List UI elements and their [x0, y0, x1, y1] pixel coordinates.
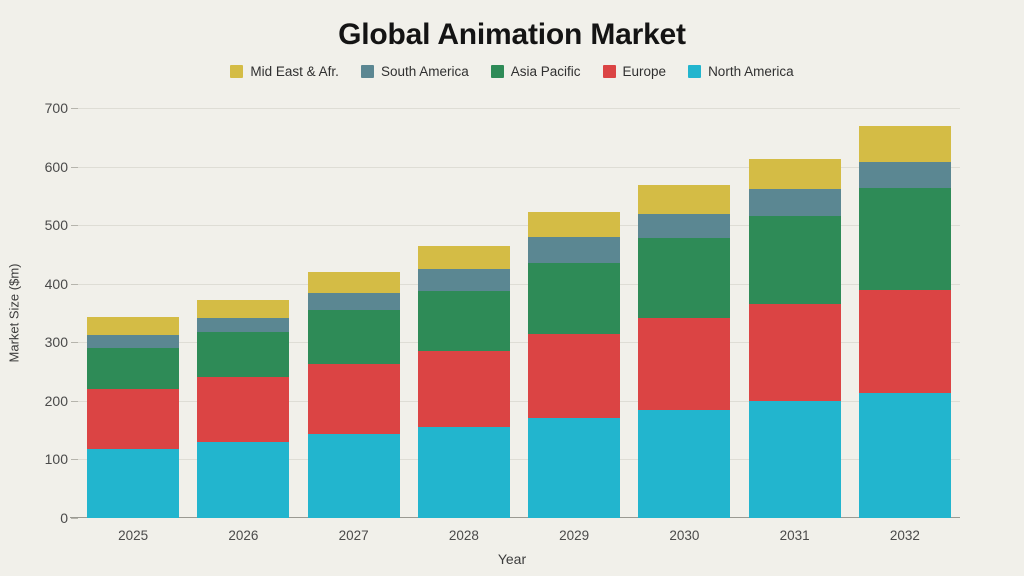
legend-label: Europe — [623, 64, 667, 79]
y-tick-mark — [71, 225, 78, 226]
x-tick-label: 2030 — [669, 528, 699, 543]
plot-area: 0100200300400500600700 20252026202720282… — [78, 108, 960, 518]
bar-segment[interactable] — [308, 364, 400, 434]
bar-segment[interactable] — [418, 427, 510, 518]
bar-group[interactable] — [308, 272, 400, 518]
bar-segment[interactable] — [418, 351, 510, 427]
y-tick-label: 700 — [45, 100, 68, 116]
bar-group[interactable] — [749, 159, 841, 518]
chart-root: Global Animation Market Mid East & Afr.S… — [0, 0, 1024, 576]
bar-segment[interactable] — [418, 291, 510, 351]
bar-segment[interactable] — [859, 290, 951, 393]
legend-swatch-icon — [688, 65, 701, 78]
y-tick-label: 200 — [45, 393, 68, 409]
bar-segment[interactable] — [749, 401, 841, 518]
bar-segment[interactable] — [308, 272, 400, 293]
bar-segment[interactable] — [308, 310, 400, 364]
y-tick-label: 600 — [45, 159, 68, 175]
legend-swatch-icon — [361, 65, 374, 78]
y-tick-mark — [71, 167, 78, 168]
x-tick-label: 2026 — [228, 528, 258, 543]
legend-swatch-icon — [491, 65, 504, 78]
x-tick-label: 2027 — [339, 528, 369, 543]
bar-segment[interactable] — [528, 418, 620, 518]
legend-label: Asia Pacific — [511, 64, 581, 79]
legend-item[interactable]: South America — [361, 64, 469, 79]
bar-group[interactable] — [197, 300, 289, 518]
bar-segment[interactable] — [418, 246, 510, 269]
bar-segment[interactable] — [308, 293, 400, 310]
bar-segment[interactable] — [87, 449, 179, 518]
legend-label: South America — [381, 64, 469, 79]
bar-segment[interactable] — [859, 126, 951, 162]
x-tick-label: 2029 — [559, 528, 589, 543]
bar-segment[interactable] — [197, 318, 289, 332]
legend-swatch-icon — [603, 65, 616, 78]
bar-segment[interactable] — [638, 214, 730, 238]
x-tick-label: 2028 — [449, 528, 479, 543]
bar-segment[interactable] — [859, 162, 951, 188]
x-tick-label: 2031 — [780, 528, 810, 543]
bar-group[interactable] — [859, 126, 951, 518]
chart-title: Global Animation Market — [0, 18, 1024, 52]
bar-segment[interactable] — [87, 335, 179, 348]
bar-segment[interactable] — [528, 212, 620, 237]
chart-legend: Mid East & Afr.South AmericaAsia Pacific… — [0, 64, 1024, 79]
bar-segment[interactable] — [197, 332, 289, 377]
legend-item[interactable]: Europe — [603, 64, 667, 79]
bar-segment[interactable] — [197, 442, 289, 518]
legend-label: Mid East & Afr. — [250, 64, 339, 79]
legend-item[interactable]: North America — [688, 64, 794, 79]
bar-segment[interactable] — [749, 304, 841, 402]
bar-segment[interactable] — [87, 317, 179, 335]
bar-segment[interactable] — [87, 389, 179, 449]
bar-segment[interactable] — [528, 334, 620, 419]
bar-segment[interactable] — [749, 216, 841, 304]
y-tick-label: 400 — [45, 276, 68, 292]
bar-segment[interactable] — [749, 189, 841, 215]
bar-series-layer: 20252026202720282029203020312032 — [78, 108, 960, 518]
y-tick-label: 300 — [45, 334, 68, 350]
bar-group[interactable] — [87, 317, 179, 518]
y-tick-label: 0 — [60, 510, 68, 526]
y-tick-mark — [71, 342, 78, 343]
bar-segment[interactable] — [638, 410, 730, 518]
bar-segment[interactable] — [528, 237, 620, 262]
bar-segment[interactable] — [859, 188, 951, 289]
bar-group[interactable] — [418, 246, 510, 518]
bar-segment[interactable] — [638, 185, 730, 214]
bar-group[interactable] — [638, 185, 730, 518]
legend-item[interactable]: Mid East & Afr. — [230, 64, 339, 79]
y-tick-mark — [71, 108, 78, 109]
legend-label: North America — [708, 64, 794, 79]
bar-segment[interactable] — [528, 263, 620, 334]
bar-group[interactable] — [528, 212, 620, 518]
bar-segment[interactable] — [749, 159, 841, 189]
bar-segment[interactable] — [418, 269, 510, 291]
y-tick-label: 500 — [45, 217, 68, 233]
bar-segment[interactable] — [87, 348, 179, 389]
y-tick-label: 100 — [45, 451, 68, 467]
y-tick-mark — [71, 518, 78, 519]
x-axis-title: Year — [0, 551, 1024, 567]
bar-segment[interactable] — [308, 434, 400, 518]
x-tick-label: 2032 — [890, 528, 920, 543]
y-tick-mark — [71, 459, 78, 460]
y-tick-mark — [71, 401, 78, 402]
bar-segment[interactable] — [638, 238, 730, 318]
bar-segment[interactable] — [197, 377, 289, 443]
bar-segment[interactable] — [638, 318, 730, 410]
x-tick-label: 2025 — [118, 528, 148, 543]
bar-segment[interactable] — [859, 393, 951, 518]
y-axis-title: Market Size ($m) — [7, 264, 22, 363]
bar-segment[interactable] — [197, 300, 289, 319]
legend-item[interactable]: Asia Pacific — [491, 64, 581, 79]
y-tick-mark — [71, 284, 78, 285]
legend-swatch-icon — [230, 65, 243, 78]
